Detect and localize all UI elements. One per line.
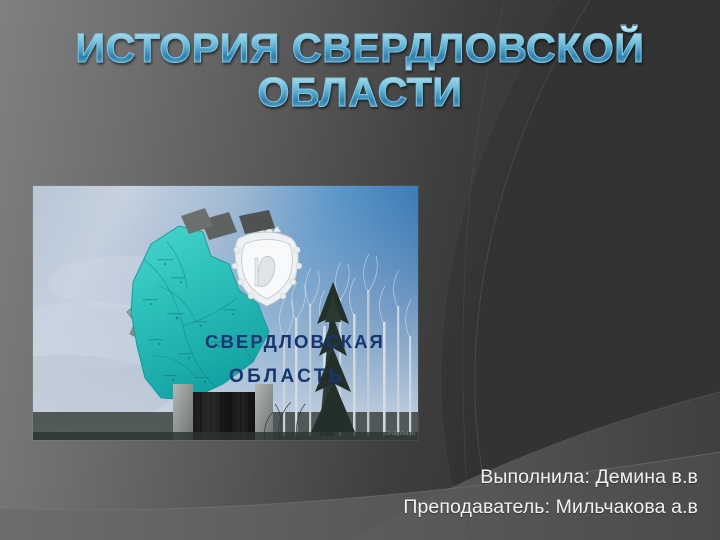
svg-text:СВЕРДЛОВСКАЯ: СВЕРДЛОВСКАЯ bbox=[205, 331, 385, 352]
monument-base bbox=[173, 384, 273, 440]
author-line-teacher: Преподаватель: Мильчакова а.в bbox=[403, 492, 698, 522]
photo-watermark: UraloVed.ru bbox=[386, 431, 415, 437]
monument-photo-illustration: СВЕРДЛОВСКАЯ ОБЛАСТЬ bbox=[33, 186, 418, 440]
presentation-slide: ИСТОРИЯ СВЕРДЛОВСКОЙ ОБЛАСТИ bbox=[0, 0, 720, 540]
svg-text:ОБЛАСТЬ: ОБЛАСТЬ bbox=[229, 366, 346, 387]
title-line-2: ОБЛАСТИ bbox=[42, 70, 678, 114]
content-photo: СВЕРДЛОВСКАЯ ОБЛАСТЬ bbox=[33, 186, 418, 440]
slide-title: ИСТОРИЯ СВЕРДЛОВСКОЙ ОБЛАСТИ bbox=[42, 26, 678, 114]
author-block: Выполнила: Демина в.в Преподаватель: Мил… bbox=[403, 462, 698, 522]
author-line-student: Выполнила: Демина в.в bbox=[403, 462, 698, 492]
title-line-1: ИСТОРИЯ СВЕРДЛОВСКОЙ bbox=[42, 26, 678, 70]
